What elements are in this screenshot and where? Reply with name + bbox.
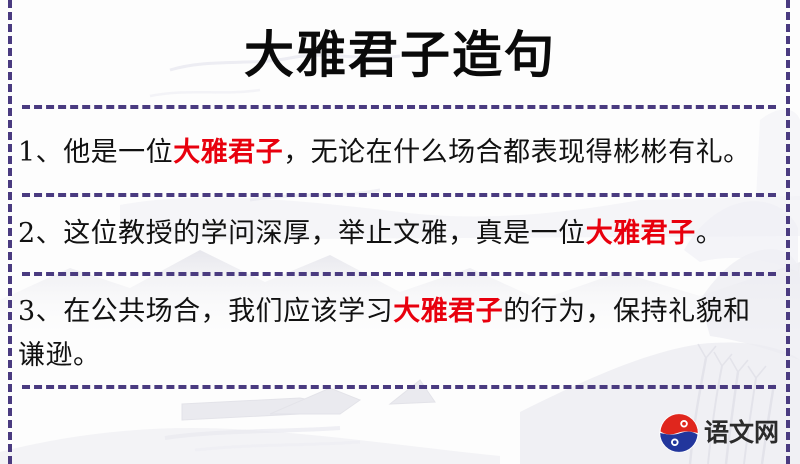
sentence-number-2: 2、 bbox=[18, 218, 63, 249]
sentence-text-after-1: ，无论在什么场合都表现得彬彬有礼。 bbox=[283, 137, 751, 168]
sentence-text-after-2: 。 bbox=[696, 218, 724, 249]
site-watermark-label: 语文网 bbox=[704, 412, 779, 454]
separator-line-3 bbox=[22, 272, 776, 276]
keyword-highlight-1: 大雅君子 bbox=[173, 137, 283, 168]
yinyang-fish-icon bbox=[658, 412, 700, 454]
site-watermark: 语文网 bbox=[658, 412, 779, 454]
separator-line-1 bbox=[22, 105, 776, 109]
keyword-highlight-3: 大雅君子 bbox=[393, 296, 503, 327]
sentence-item-3: 3、在公共场合，我们应该学习大雅君子的行为，保持礼貌和谦逊。 bbox=[18, 290, 778, 378]
sentence-item-1: 1、他是一位大雅君子，无论在什么场合都表现得彬彬有礼。 bbox=[18, 131, 778, 175]
sentence-text-before-1: 他是一位 bbox=[63, 137, 173, 168]
sentence-text-before-3: 在公共场合，我们应该学习 bbox=[63, 296, 393, 327]
separator-line-2 bbox=[22, 193, 776, 197]
separator-line-4 bbox=[22, 385, 776, 389]
sentence-text-before-2: 这位教授的学问深厚，举止文雅，真是一位 bbox=[63, 218, 586, 249]
sentence-number-3: 3、 bbox=[18, 296, 63, 327]
sentence-number-1: 1、 bbox=[18, 137, 63, 168]
keyword-highlight-2: 大雅君子 bbox=[586, 218, 696, 249]
page-title: 大雅君子造句 bbox=[0, 24, 800, 86]
sentence-item-2: 2、这位教授的学问深厚，举止文雅，真是一位大雅君子。 bbox=[18, 212, 778, 256]
worksheet-page: 大雅君子造句 1、他是一位大雅君子，无论在什么场合都表现得彬彬有礼。 2、这位教… bbox=[0, 0, 800, 464]
